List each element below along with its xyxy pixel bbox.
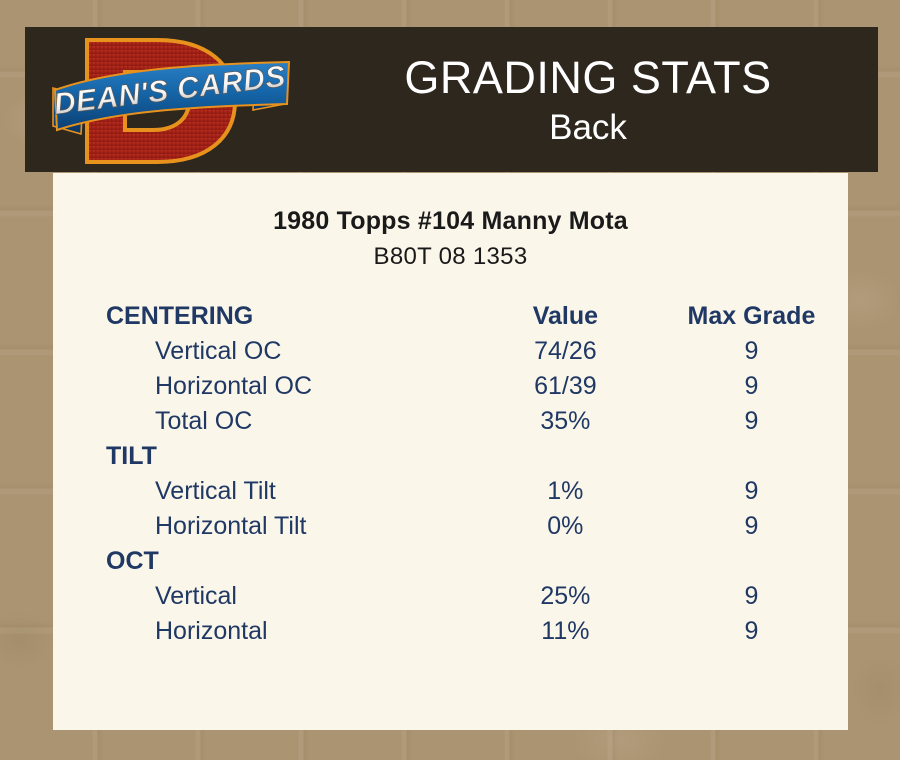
stat-value: 35% (476, 404, 655, 439)
stat-label: Vertical (53, 579, 476, 614)
header-bar: DEAN'S CARDS GRADING STATS Back (25, 27, 878, 172)
max-grade-column-header: Max Grade (655, 299, 848, 334)
stat-max-grade: 9 (655, 579, 848, 614)
stat-value: 74/26 (476, 334, 655, 369)
section-header-row: OCT (53, 544, 848, 579)
max-grade-column-header (655, 439, 848, 474)
stat-label: Total OC (53, 404, 476, 439)
stat-value: 61/39 (476, 369, 655, 404)
table-row: Horizontal11%9 (53, 614, 848, 649)
content-panel: 1980 Topps #104 Manny Mota B80T 08 1353 … (53, 173, 848, 730)
section-header-label: TILT (53, 439, 476, 474)
section-name: TILT (106, 442, 157, 471)
stat-value: 1% (476, 474, 655, 509)
grading-stats-table: CENTERINGValueMax GradeVertical OC74/269… (53, 299, 848, 649)
page-subtitle: Back (549, 110, 627, 145)
value-column-header: Value (476, 299, 655, 334)
logo-svg: DEAN'S CARDS (47, 30, 297, 172)
section-name: CENTERING (106, 302, 253, 331)
stat-label: Vertical Tilt (53, 474, 476, 509)
table-row: Total OC35%9 (53, 404, 848, 439)
table-row: Vertical Tilt1%9 (53, 474, 848, 509)
stat-max-grade: 9 (655, 509, 848, 544)
section-header-row: TILT (53, 439, 848, 474)
page-title: GRADING STATS (404, 55, 771, 100)
table-row: Horizontal OC61/399 (53, 369, 848, 404)
table-row: Horizontal Tilt0%9 (53, 509, 848, 544)
deans-cards-logo: DEAN'S CARDS (47, 30, 297, 172)
card-serial-number: B80T 08 1353 (53, 243, 848, 271)
stat-label: Horizontal (53, 614, 476, 649)
max-grade-column-header (655, 544, 848, 579)
stat-label: Horizontal OC (53, 369, 476, 404)
section-header-row: CENTERINGValueMax Grade (53, 299, 848, 334)
section-header-label: OCT (53, 544, 476, 579)
section-header-label: CENTERING (53, 299, 476, 334)
table-row: Vertical25%9 (53, 579, 848, 614)
value-column-header (476, 544, 655, 579)
stat-max-grade: 9 (655, 474, 848, 509)
stat-label: Horizontal Tilt (53, 509, 476, 544)
table-row: Vertical OC74/269 (53, 334, 848, 369)
section-name: OCT (106, 547, 159, 576)
stat-max-grade: 9 (655, 404, 848, 439)
card-title: 1980 Topps #104 Manny Mota (53, 207, 848, 236)
stat-label: Vertical OC (53, 334, 476, 369)
stat-value: 25% (476, 579, 655, 614)
stat-value: 0% (476, 509, 655, 544)
value-column-header (476, 439, 655, 474)
header-title-block: GRADING STATS Back (298, 27, 878, 172)
stat-max-grade: 9 (655, 334, 848, 369)
stat-value: 11% (476, 614, 655, 649)
stat-max-grade: 9 (655, 369, 848, 404)
stat-max-grade: 9 (655, 614, 848, 649)
